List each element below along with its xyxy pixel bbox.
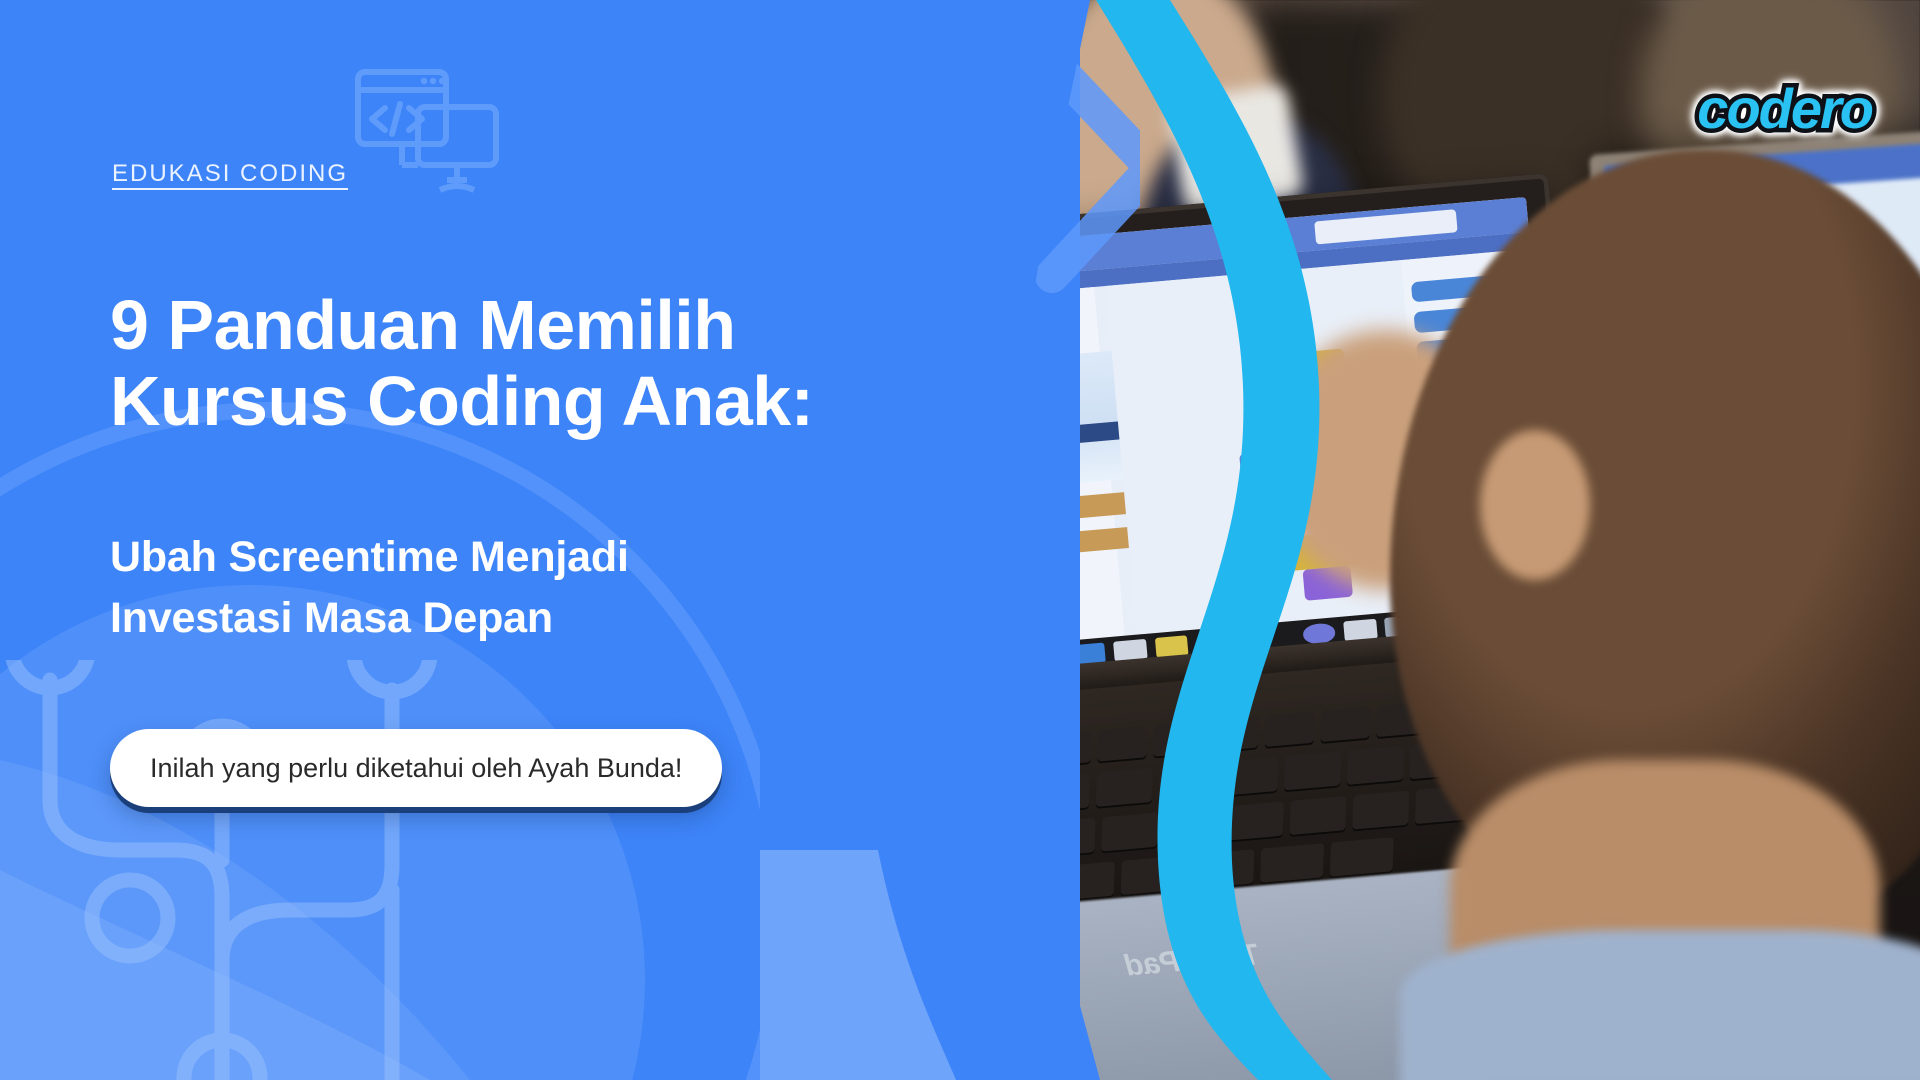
headline-line-2: Kursus Coding Anak:: [110, 364, 970, 440]
subhead-line-2: Investasi Masa Depan: [110, 588, 870, 649]
photo-child-shirt: [1400, 930, 1920, 1080]
banner-content: EDUKASI CODING 9 Panduan Memilih Kursus …: [0, 0, 1100, 1080]
page-title: 9 Panduan Memilih Kursus Coding Anak:: [110, 288, 970, 439]
promo-banner: ThinkPad: [0, 0, 1920, 1080]
child-coding-photo: ThinkPad: [1080, 0, 1920, 1080]
photo-trackpoint: [1205, 831, 1227, 854]
photo-child-ear: [1480, 430, 1590, 580]
cta-pill[interactable]: Inilah yang perlu diketahui oleh Ayah Bu…: [110, 729, 722, 807]
page-subtitle: Ubah Screentime Menjadi Investasi Masa D…: [110, 527, 870, 649]
headline-line-1: 9 Panduan Memilih: [110, 288, 970, 364]
codero-logo[interactable]: codero: [1697, 76, 1872, 141]
kicker-label[interactable]: EDUKASI CODING: [112, 160, 348, 188]
cta-pill-label: Inilah yang perlu diketahui oleh Ayah Bu…: [150, 753, 682, 784]
subhead-line-1: Ubah Screentime Menjadi: [110, 527, 870, 588]
